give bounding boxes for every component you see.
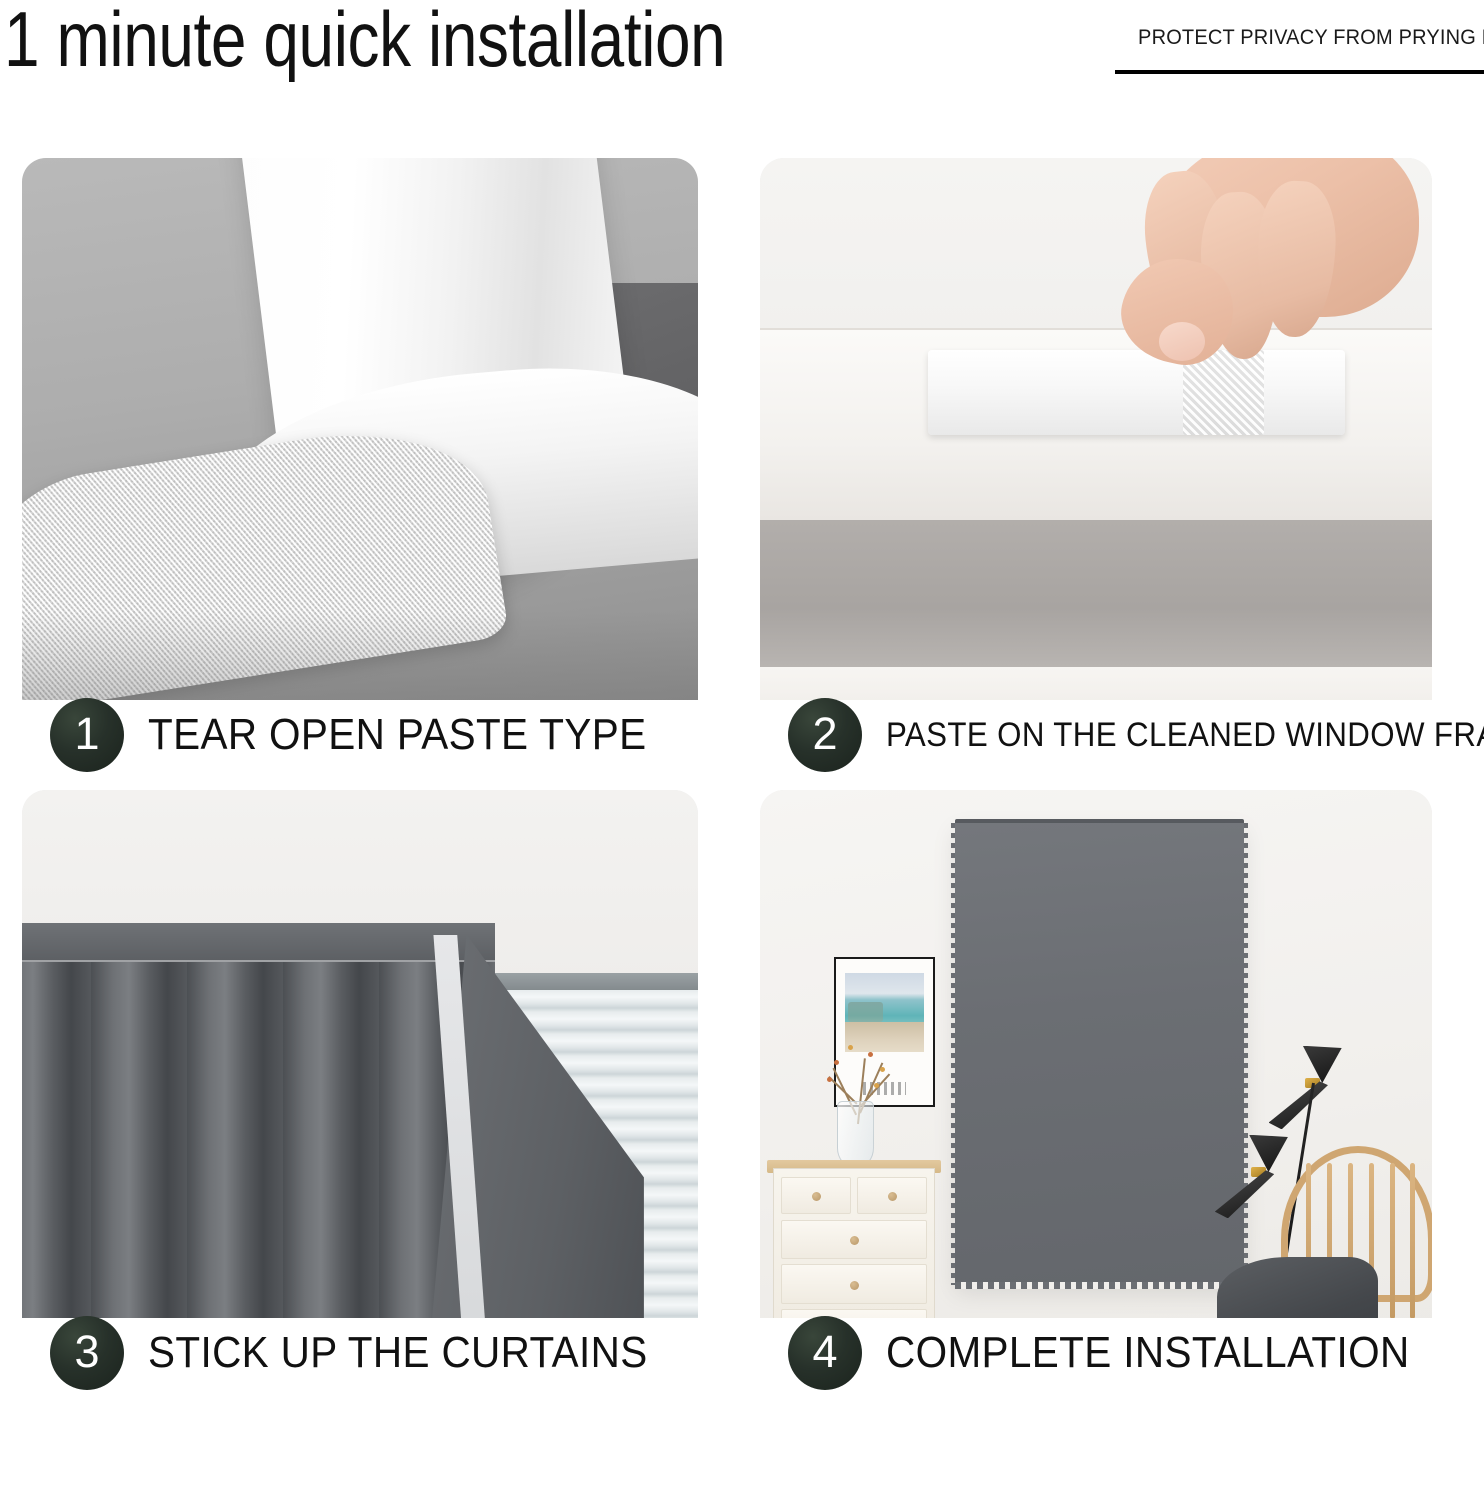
infographic-page: 1 minute quick installation PROTECT PRIV… xyxy=(0,0,1484,1494)
step-3-caption: 3 STICK UP THE CURTAINS xyxy=(50,1310,691,1396)
hand xyxy=(1109,158,1418,384)
steps-grid: 1 TEAR OPEN PASTE TYPE xyxy=(0,0,1484,1494)
step-2-caption: 2 PASTE ON THE CLEANED WINDOW FRAME xyxy=(788,692,1484,778)
step-1-caption: 1 TEAR OPEN PASTE TYPE xyxy=(50,692,690,778)
step-1-badge: 1 xyxy=(50,698,124,772)
step-4-photo xyxy=(760,790,1432,1346)
step-2-photo xyxy=(760,158,1432,724)
step-4-badge: 4 xyxy=(788,1316,862,1390)
drawer-knob xyxy=(888,1192,897,1201)
step-4-caption-text: COMPLETE INSTALLATION xyxy=(886,1328,1410,1378)
dresser-drawer xyxy=(857,1177,927,1214)
step-1-photo xyxy=(22,158,698,724)
drawer-knob xyxy=(812,1192,821,1201)
step-3-photo xyxy=(22,790,698,1346)
step-card-3 xyxy=(22,790,698,1346)
step-2-caption-text: PASTE ON THE CLEANED WINDOW FRAME xyxy=(886,716,1484,755)
step-card-1 xyxy=(22,158,698,724)
installed-blackout-curtain xyxy=(955,823,1244,1284)
curtain-bottom-edge xyxy=(955,1282,1244,1289)
dresser-drawer xyxy=(781,1220,928,1259)
grey-curtain xyxy=(22,923,495,1346)
step-3-caption-text: STICK UP THE CURTAINS xyxy=(148,1328,648,1378)
step-card-4 xyxy=(760,790,1432,1346)
lamp-shade-bottom-cone xyxy=(1269,1081,1328,1129)
floor-lamp-upper-shade xyxy=(1264,1046,1378,1135)
step-4-caption: 4 COMPLETE INSTALLATION xyxy=(788,1310,1455,1396)
grey-wall-band xyxy=(760,520,1432,667)
hand-thumbnail xyxy=(1159,322,1205,361)
curtain-header-band xyxy=(22,923,495,962)
step-2-badge: 2 xyxy=(788,698,862,772)
drawer-knob xyxy=(850,1281,859,1290)
dresser-drawer xyxy=(781,1264,928,1303)
dresser-drawer xyxy=(781,1177,851,1214)
drawer-knob xyxy=(850,1236,859,1245)
lamp-shade-bottom-cone xyxy=(1215,1170,1274,1218)
step-3-badge: 3 xyxy=(50,1316,124,1390)
step-1-caption-text: TEAR OPEN PASTE TYPE xyxy=(148,710,646,760)
step-card-2 xyxy=(760,158,1432,724)
glass-vase xyxy=(837,1101,874,1168)
